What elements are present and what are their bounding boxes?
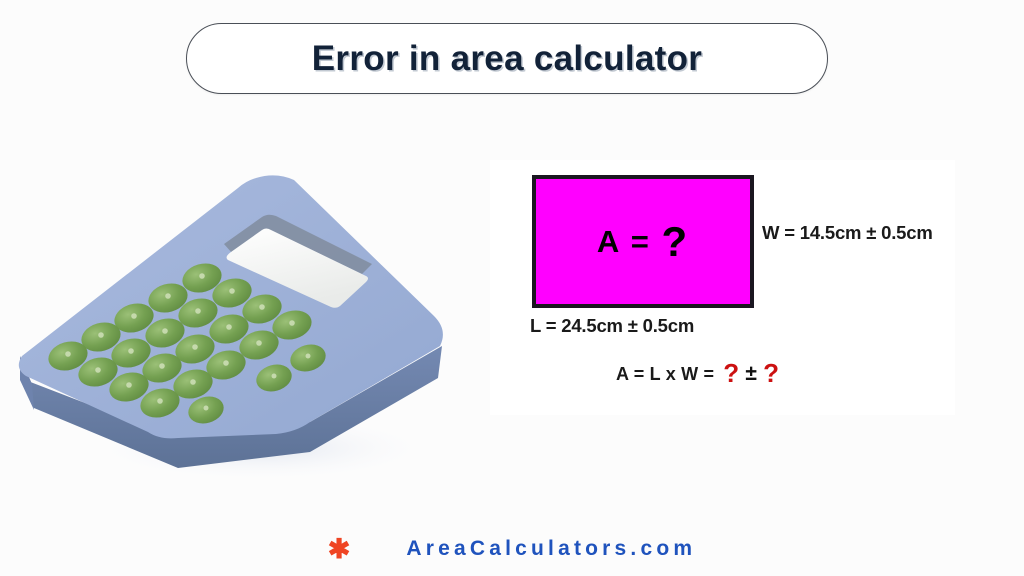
page-title: Error in area calculator [312,39,702,79]
calculator-illustration [10,170,470,490]
plus-minus-icon: ± [739,362,763,386]
site-brand: AreaCalculators.com [406,537,696,561]
area-diagram-panel: A = ? W = 14.5cm ± 0.5cm L = 24.5cm ± 0.… [490,160,955,415]
area-rectangle: A = ? [532,175,754,308]
asterisk-icon: ✱ [328,536,351,563]
area-formula: A = L x W =?±? [616,358,779,389]
width-dimension-label: W = 14.5cm ± 0.5cm [762,222,933,244]
formula-result-unknown: ? [723,358,739,388]
page-title-pill: Error in area calculator [186,23,828,94]
footer: ✱ AreaCalculators.com [0,534,1024,563]
formula-uncertainty-unknown: ? [763,358,779,388]
formula-expression: A = L x W = [616,364,714,384]
length-dimension-label: L = 24.5cm ± 0.5cm [530,315,694,337]
area-label-prefix: A = [597,224,662,259]
area-rectangle-label: A = ? [597,221,689,263]
area-label-unknown: ? [661,218,689,265]
